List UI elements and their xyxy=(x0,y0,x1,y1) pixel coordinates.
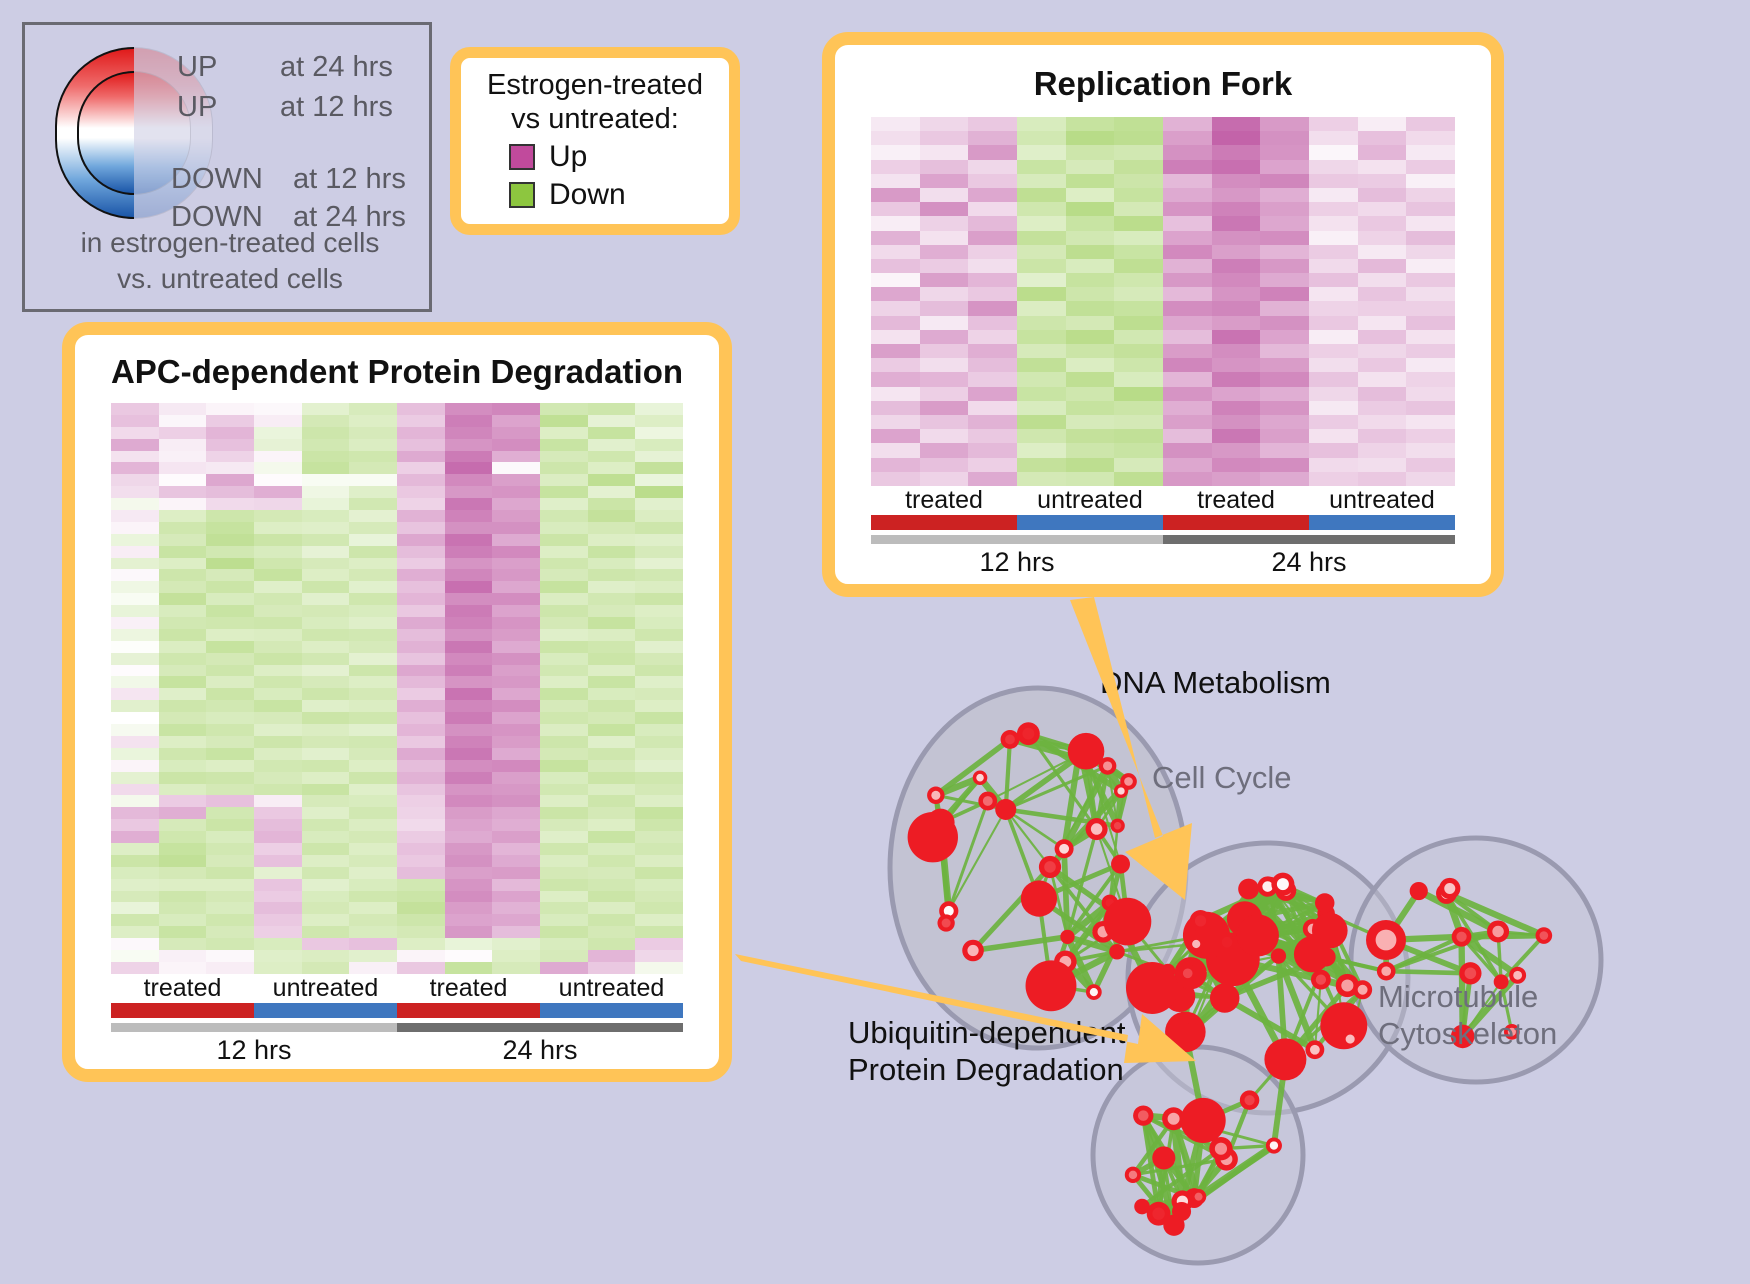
callout-arrows xyxy=(0,0,1750,1279)
arrow-replication-fork-to-dna xyxy=(1070,597,1192,900)
arrow-apc-to-ubiquitin xyxy=(735,954,1196,1063)
